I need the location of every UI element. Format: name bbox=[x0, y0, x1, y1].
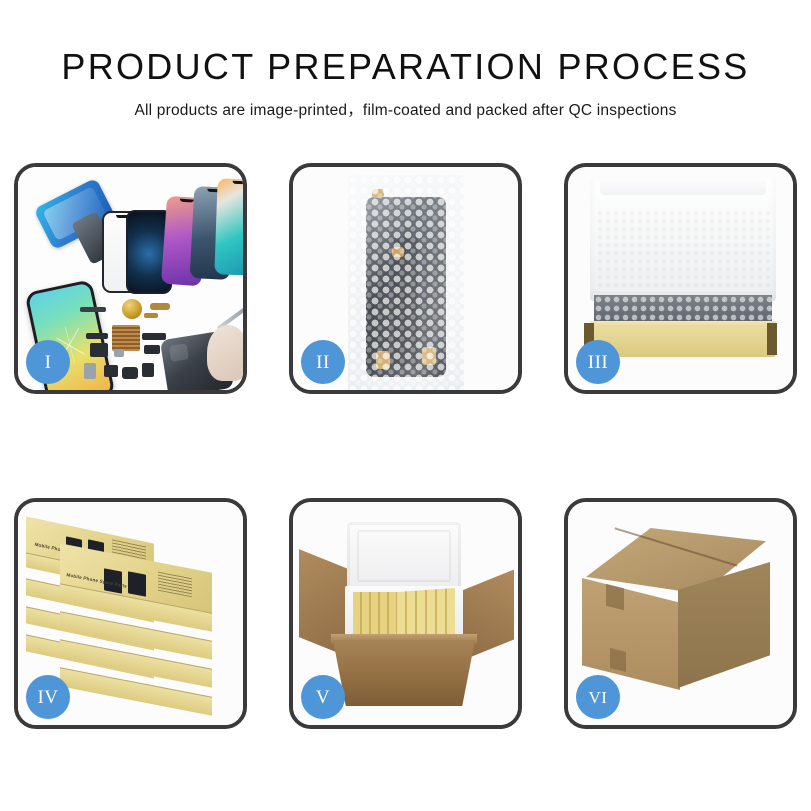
panel-2-image: II bbox=[293, 167, 518, 390]
step-badge-1: I bbox=[26, 340, 70, 384]
page-title: PRODUCT PREPARATION PROCESS bbox=[0, 0, 811, 86]
packed-retail-boxes bbox=[397, 588, 455, 638]
spare-part bbox=[104, 365, 118, 377]
foam-liner bbox=[596, 209, 770, 291]
carton-tape-mark bbox=[606, 584, 624, 610]
step-numeral: III bbox=[588, 353, 608, 372]
step-badge-5: V bbox=[301, 675, 345, 719]
gold-camera-module bbox=[122, 299, 142, 319]
bubble-wrap-package bbox=[348, 175, 464, 390]
process-step-grid: I II bbox=[14, 163, 797, 767]
panel-1-image: I bbox=[18, 167, 243, 390]
connector-grid-chip bbox=[112, 325, 140, 351]
foam-box-lid bbox=[347, 522, 461, 592]
box-tab-right bbox=[767, 323, 777, 355]
product-preparation-infographic: PRODUCT PREPARATION PROCESS All products… bbox=[0, 0, 811, 811]
spare-part bbox=[114, 349, 124, 357]
page-subtitle: All products are image-printed，film-coat… bbox=[0, 86, 811, 120]
step-numeral: IV bbox=[37, 688, 58, 707]
spare-part bbox=[86, 333, 108, 339]
spare-part bbox=[142, 363, 154, 377]
carton-left-face bbox=[582, 578, 680, 690]
process-step-panel-3[interactable]: III bbox=[564, 163, 797, 394]
teal-phone-screen bbox=[214, 178, 243, 275]
spare-part bbox=[142, 333, 166, 340]
carton-tape-mark bbox=[610, 648, 626, 672]
step-badge-4: IV bbox=[26, 675, 70, 719]
panel-3-image: III bbox=[568, 167, 793, 390]
step-numeral: V bbox=[316, 688, 330, 707]
hand bbox=[207, 325, 243, 381]
step-numeral: II bbox=[316, 353, 330, 372]
spare-part bbox=[90, 343, 108, 357]
step-badge-3: III bbox=[576, 340, 620, 384]
step-numeral: VI bbox=[589, 689, 608, 706]
spare-part bbox=[84, 363, 96, 379]
process-step-panel-5[interactable]: V bbox=[289, 498, 522, 729]
process-step-panel-1[interactable]: I bbox=[14, 163, 247, 394]
panel-6-image: VI bbox=[568, 502, 793, 725]
plastic-sheen bbox=[348, 175, 464, 390]
spare-part bbox=[122, 367, 138, 379]
process-step-panel-6[interactable]: VI bbox=[564, 498, 797, 729]
step-badge-2: II bbox=[301, 340, 345, 384]
spare-part bbox=[80, 307, 106, 312]
spare-part bbox=[144, 313, 158, 318]
carton-body bbox=[333, 640, 475, 706]
spare-part bbox=[144, 345, 160, 354]
header: PRODUCT PREPARATION PROCESS All products… bbox=[0, 0, 811, 120]
box-window bbox=[128, 571, 146, 596]
panel-5-image: V bbox=[293, 502, 518, 725]
spare-part bbox=[150, 303, 170, 310]
panel-4-image: Mobile Phone Spare Parts Mobile Phone Sp… bbox=[18, 502, 243, 725]
process-step-panel-2[interactable]: II bbox=[289, 163, 522, 394]
step-numeral: I bbox=[45, 353, 52, 372]
step-badge-6: VI bbox=[576, 675, 620, 719]
process-step-panel-4[interactable]: Mobile Phone Spare Parts Mobile Phone Sp… bbox=[14, 498, 247, 729]
